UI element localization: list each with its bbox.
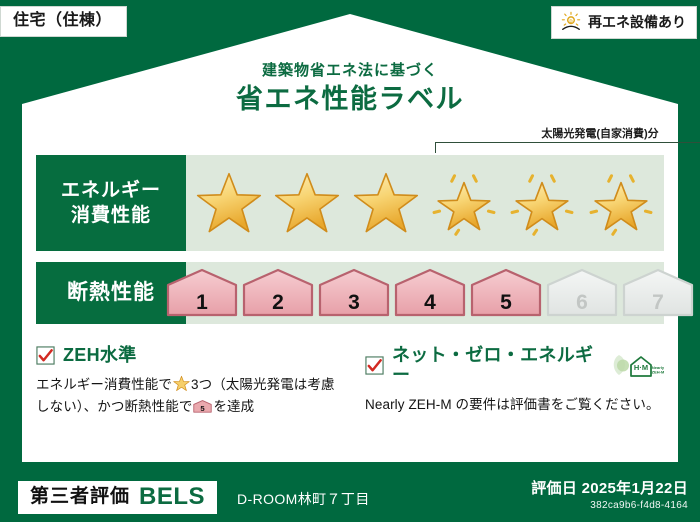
bels-badge: 第三者評価 BELS bbox=[18, 481, 217, 514]
net-zero-body: Nearly ZEH-M の要件は評価書をご覧ください。 bbox=[365, 394, 664, 416]
star-icon bbox=[273, 170, 341, 236]
insulation-performance-label: 断熱性能 bbox=[36, 262, 186, 324]
insulation-level-6: 6 bbox=[545, 268, 619, 318]
energy-label-line1: エネルギー bbox=[61, 178, 161, 203]
insulation-level-2: 2 bbox=[241, 268, 315, 318]
insulation-level-7: 7 bbox=[621, 268, 695, 318]
insulation-level-5: 5 bbox=[469, 268, 543, 318]
zeh-body-post: を達成 bbox=[213, 399, 254, 414]
sun-icon: D bbox=[560, 11, 582, 33]
renewable-badge-label: 再エネ設備あり bbox=[588, 12, 686, 32]
net-zero-title: ネット・ゼロ・エネルギー bbox=[392, 346, 602, 386]
insulation-levels-band: 1 2 3 bbox=[186, 262, 664, 324]
checkmark-icon bbox=[36, 346, 55, 365]
insulation-performance-row: 断熱性能 bbox=[36, 262, 664, 324]
insulation-level-number: 1 bbox=[165, 292, 239, 313]
insulation-level-number: 2 bbox=[241, 292, 315, 313]
insulation-level-number: 3 bbox=[317, 292, 391, 313]
star-2 bbox=[271, 168, 343, 238]
insulation-level-number: 7 bbox=[621, 292, 695, 313]
star-icon bbox=[173, 375, 190, 392]
solar-annotation: 太陽光発電(自家消費)分 bbox=[435, 129, 700, 153]
zeh-m-logo: H·M Nearly ZEH-M bbox=[612, 352, 664, 380]
energy-performance-label: 住宅（住棟） D 再エネ設備あり 建築物省エネ法に基づく 省エネ性能ラベル bbox=[0, 0, 700, 522]
evaluation-date: 評価日 2025年1月22日 bbox=[531, 480, 688, 498]
zeh-standard-header: ZEH水準 bbox=[36, 346, 335, 366]
energy-label-line2: 消費性能 bbox=[71, 203, 151, 228]
star-icon bbox=[195, 170, 263, 236]
net-zero-header: ネット・ゼロ・エネルギー H·M Nearly ZEH-M bbox=[365, 346, 664, 386]
insulation-label-text: 断熱性能 bbox=[67, 280, 155, 305]
house-type-badge: 住宅（住棟） bbox=[0, 6, 127, 37]
insulation-level-number: 4 bbox=[393, 292, 467, 313]
title-subtitle: 建築物省エネ法に基づく bbox=[22, 62, 678, 80]
property-name: D-ROOM林町７丁目 bbox=[237, 492, 370, 507]
insulation-level-list: 1 2 3 bbox=[186, 262, 664, 324]
house-type-badge-label: 住宅（住棟） bbox=[13, 12, 112, 29]
zeh-standard-body: エネルギー消費性能で3つ（太陽光発電は考慮しない）、かつ断熱性能で5を達成 bbox=[36, 374, 335, 418]
net-zero-energy-section: ネット・ゼロ・エネルギー H·M Nearly ZEH-M Nearly ZEH… bbox=[349, 346, 664, 418]
checkmark-icon bbox=[365, 356, 384, 375]
star-1 bbox=[193, 168, 265, 238]
insulation-level-3: 3 bbox=[317, 268, 391, 318]
star-6-solar bbox=[585, 168, 657, 238]
star-4-solar bbox=[428, 168, 500, 238]
insulation-level-4: 4 bbox=[393, 268, 467, 318]
bels-en-label: BELS bbox=[139, 485, 205, 509]
insulation-level-number: 5 bbox=[469, 292, 543, 313]
insulation-level-number: 6 bbox=[545, 292, 619, 313]
solar-bracket bbox=[435, 142, 700, 153]
star-rating bbox=[186, 155, 664, 251]
energy-performance-row: エネルギー 消費性能 太陽光発電(自家消費)分 bbox=[36, 155, 664, 251]
svg-text:ZEH-M: ZEH-M bbox=[652, 369, 664, 374]
star-icon bbox=[508, 170, 576, 236]
insulation-level-1: 1 bbox=[165, 268, 239, 318]
footer-right: 評価日 2025年1月22日 382ca9b6-f4d8-4164 bbox=[531, 480, 688, 512]
zeh-standard-title: ZEH水準 bbox=[63, 346, 137, 366]
svg-text:H·M: H·M bbox=[634, 363, 648, 372]
star-icon bbox=[352, 170, 420, 236]
house-icon: 5 bbox=[193, 399, 212, 414]
star-icon bbox=[587, 170, 655, 236]
star-5-solar bbox=[506, 168, 578, 238]
page-title: 建築物省エネ法に基づく 省エネ性能ラベル bbox=[22, 62, 678, 117]
title-main: 省エネ性能ラベル bbox=[22, 83, 678, 117]
criteria-sections: ZEH水準 エネルギー消費性能で3つ（太陽光発電は考慮しない）、かつ断熱性能で5… bbox=[36, 346, 664, 418]
energy-performance-label: エネルギー 消費性能 bbox=[36, 155, 186, 251]
card-content: 建築物省エネ法に基づく 省エネ性能ラベル エネルギー 消費性能 太陽光発電(自家… bbox=[22, 14, 678, 462]
bels-jp-label: 第三者評価 bbox=[30, 487, 130, 508]
renewable-equipment-badge: D 再エネ設備あり bbox=[551, 6, 697, 39]
evaluation-id: 382ca9b6-f4d8-4164 bbox=[531, 500, 688, 512]
solar-annotation-label: 太陽光発電(自家消費)分 bbox=[435, 129, 700, 140]
energy-stars-band: 太陽光発電(自家消費)分 bbox=[186, 155, 664, 251]
svg-text:5: 5 bbox=[201, 404, 206, 413]
zeh-standard-section: ZEH水準 エネルギー消費性能で3つ（太陽光発電は考慮しない）、かつ断熱性能で5… bbox=[36, 346, 349, 418]
star-3 bbox=[350, 168, 422, 238]
zeh-body-pre: エネルギー消費性能で bbox=[36, 377, 172, 392]
star-icon bbox=[430, 170, 498, 236]
